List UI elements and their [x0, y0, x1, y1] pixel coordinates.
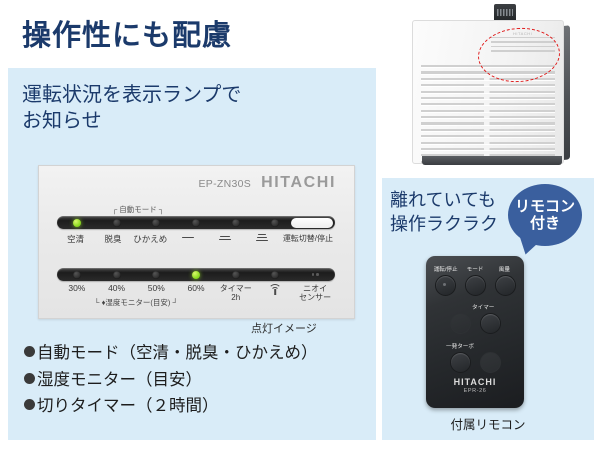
list-item: 自動モード（空清・脱臭・ひかえめ） [24, 340, 374, 367]
remote-label-fan: 風量 [490, 265, 519, 273]
label-dasshu: 脱臭 [94, 233, 131, 245]
remote-label-mode: モード [460, 265, 489, 273]
power-button-strip[interactable] [291, 218, 333, 228]
label-timer: タイマー 2h [216, 284, 256, 302]
remote-label-turbo: 一発ターボ [446, 342, 474, 350]
remote-timer-button[interactable] [480, 313, 501, 334]
led-indicator [152, 271, 160, 279]
label-timer-value: 2h [216, 293, 256, 302]
remote-fan-button[interactable] [495, 275, 516, 296]
slide-root: 操作性にも配慮 運転状況を表示ランプで お知らせ EP-ZN30S HITACH… [0, 0, 600, 450]
led-indicator [271, 271, 279, 279]
label-odor-sensor: ニオイ センサー [295, 284, 335, 302]
led-cell-kuusei [57, 216, 97, 229]
auto-mode-bracket: ┌ 自動モード ┐ [95, 204, 181, 215]
led-cell-50 [136, 268, 176, 281]
odor-sensor-dots-icon [312, 273, 319, 276]
led-indicator [232, 219, 240, 227]
led-cell-power [295, 216, 335, 229]
right-heading-line-1: 離れていても [390, 188, 498, 212]
left-heading-line-1: 運転状況を表示ランプで [22, 82, 362, 108]
led-cell-60 [176, 268, 216, 281]
badge-line-1: リモコン [515, 198, 575, 215]
led-indicator [113, 219, 121, 227]
wind-3-icon [244, 233, 281, 245]
led-strip-mode[interactable] [57, 216, 335, 229]
mode-label-row: 空清 脱臭 ひかえめ 運転切替/停止 [57, 233, 335, 245]
left-feature-panel: 運転状況を表示ランプで お知らせ EP-ZN30S HITACHI ┌ 自動モー… [8, 68, 376, 440]
control-panel-branding: EP-ZN30S HITACHI [199, 174, 337, 192]
led-cell-wind-1 [176, 216, 216, 229]
wifi-icon [256, 284, 296, 302]
remote-label-power: 運転/停止 [431, 265, 460, 273]
label-hikaeme: ひかえめ [132, 233, 169, 245]
led-cell-wind-2 [216, 216, 256, 229]
bullet-dot-icon [24, 399, 35, 410]
led-indicator [152, 219, 160, 227]
air-purifier-product-photo: HITACHI [398, 4, 594, 172]
auto-mode-label: 自動モード [119, 205, 157, 214]
humidity-monitor-label: 湿度モニター(目安) [105, 298, 170, 307]
label-kuusei: 空清 [57, 233, 94, 245]
left-panel-heading: 運転状況を表示ランプで お知らせ [22, 82, 362, 135]
right-panel-heading: 離れていても 操作ラクラク [390, 188, 498, 236]
remote-hitachi-logo: HITACHI [426, 377, 524, 387]
bullet-text: 湿度モニター（目安） [37, 371, 202, 389]
led-cell-hikaeme [136, 216, 176, 229]
remote-turbo-button[interactable] [450, 352, 471, 373]
humidity-monitor-bracket: └ ♦湿度モニター(目安) ┘ [61, 297, 211, 308]
badge-line-2: 付き [530, 215, 560, 232]
purifier-base [422, 156, 562, 165]
right-heading-line-2: 操作ラクラク [390, 212, 498, 236]
led-indicator [232, 271, 240, 279]
remote-top-label-row: 運転/停止 モード 風量 [431, 265, 519, 273]
led-cell-dasshu [97, 216, 137, 229]
led-cell-40 [97, 268, 137, 281]
feature-bullet-list: 自動モード（空清・脱臭・ひかえめ） 湿度モニター（目安） 切りタイマー（２時間） [24, 340, 374, 420]
led-indicator [192, 219, 200, 227]
led-indicator [113, 271, 121, 279]
list-item: 湿度モニター（目安） [24, 367, 374, 394]
led-cell-30 [57, 268, 97, 281]
page-title: 操作性にも配慮 [22, 12, 232, 54]
list-item: 切りタイマー（２時間） [24, 393, 374, 420]
wind-1-icon [169, 233, 206, 245]
label-timer-title: タイマー [216, 284, 256, 293]
remote-model-label: EPR-26 [426, 388, 524, 394]
led-indicator [271, 219, 279, 227]
hitachi-logo: HITACHI [261, 174, 336, 192]
remote-power-button[interactable] [435, 275, 456, 296]
right-feature-panel: 離れていても 操作ラクラク リモコン 付き 運転/停止 モード 風量 タイマー … [382, 178, 594, 440]
purifier-louvers [421, 65, 555, 161]
product-model-label: EP-ZN30S [199, 178, 252, 190]
remote-unused-button-right[interactable] [480, 352, 501, 373]
remote-unused-button-left[interactable] [450, 313, 471, 334]
control-panel-caption: 点灯イメージ [251, 320, 317, 336]
bullet-text: 切りタイマー（２時間） [37, 397, 219, 415]
led-indicator-on [192, 271, 200, 279]
left-heading-line-2: お知らせ [22, 108, 362, 134]
control-panel-photo: EP-ZN30S HITACHI ┌ 自動モード ┐ [38, 165, 355, 319]
label-odor-line-1: ニオイ [295, 284, 335, 293]
led-cell-wind-3 [256, 216, 296, 229]
remote-control: 運転/停止 モード 風量 タイマー 一発ターボ HITACHI EPR-26 [426, 256, 524, 408]
remote-label-timer: タイマー [472, 303, 494, 311]
label-power-toggle: 運転切替/停止 [281, 233, 335, 245]
led-cell-wifi [256, 268, 296, 281]
bullet-dot-icon [24, 346, 35, 357]
remote-mode-button[interactable] [465, 275, 486, 296]
bullet-text: 自動モード（空清・脱臭・ひかえめ） [37, 344, 318, 362]
led-cell-timer [216, 268, 256, 281]
label-odor-line-2: センサー [295, 293, 335, 302]
wind-2-icon [206, 233, 243, 245]
led-indicator [73, 271, 81, 279]
remote-caption: 付属リモコン [382, 414, 594, 433]
status-badge: リモコン 付き [508, 184, 582, 246]
led-indicator-on [73, 219, 81, 227]
led-cell-odor-sensor [295, 268, 335, 281]
bullet-dot-icon [24, 373, 35, 384]
led-strip-humidity[interactable] [57, 268, 335, 281]
